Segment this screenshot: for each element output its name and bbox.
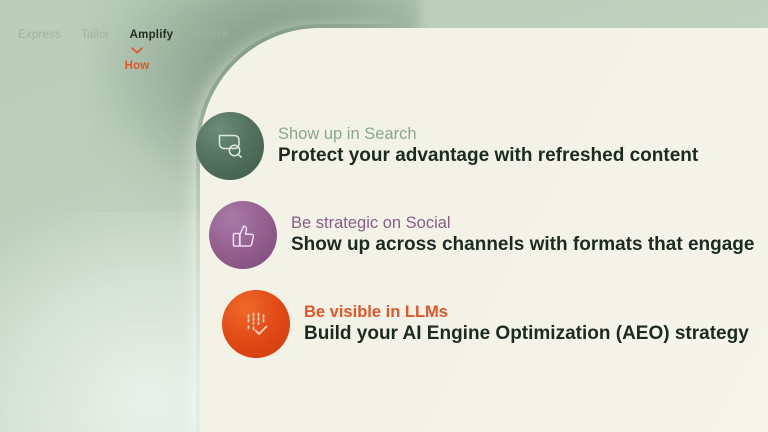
nav-item-amplify-label: Amplify	[130, 29, 174, 41]
search-bubble-icon	[213, 129, 247, 163]
nav-item-evolve[interactable]: Evolve	[193, 29, 229, 41]
bullet-social	[209, 201, 277, 269]
thumbs-up-icon	[227, 219, 259, 251]
feature-eyebrow-social: Be strategic on Social	[291, 214, 754, 233]
nav-sub-label: How	[125, 60, 150, 72]
nav-active-subsection: How	[108, 47, 166, 74]
ai-sparkle-check-icon	[240, 308, 272, 340]
nav-item-tailor-label: Tailor	[81, 29, 110, 41]
feature-eyebrow-search: Show up in Search	[278, 125, 698, 144]
bullet-search	[196, 112, 264, 180]
feature-headline-search: Protect your advantage with refreshed co…	[278, 145, 698, 168]
chevron-down-icon	[131, 47, 143, 54]
nav-item-amplify[interactable]: Amplify	[130, 29, 174, 41]
feature-headline-social: Show up across channels with formats tha…	[291, 234, 754, 257]
nav-item-express[interactable]: Express	[18, 29, 61, 41]
feature-row-search: Show up in Search Protect your advantage…	[196, 110, 768, 182]
feature-text-social: Be strategic on Social Show up across ch…	[291, 214, 754, 257]
slide-canvas: Express Tailor Amplify Evolve How	[0, 0, 768, 432]
feature-row-social: Be strategic on Social Show up across ch…	[209, 199, 768, 271]
feature-row-llm: Be visible in LLMs Build your AI Engine …	[222, 288, 768, 360]
feature-eyebrow-llm: Be visible in LLMs	[304, 303, 749, 322]
feature-text-search: Show up in Search Protect your advantage…	[278, 125, 698, 168]
feature-text-llm: Be visible in LLMs Build your AI Engine …	[304, 303, 749, 346]
feature-row-list: Show up in Search Protect your advantage…	[196, 110, 768, 377]
nav-item-tailor[interactable]: Tailor	[81, 29, 110, 41]
nav-item-evolve-label: Evolve	[193, 29, 229, 41]
bullet-llm	[222, 290, 290, 358]
nav-item-express-label: Express	[18, 29, 61, 41]
feature-headline-llm: Build your AI Engine Optimization (AEO) …	[304, 323, 749, 346]
top-nav: Express Tailor Amplify Evolve	[18, 29, 229, 41]
